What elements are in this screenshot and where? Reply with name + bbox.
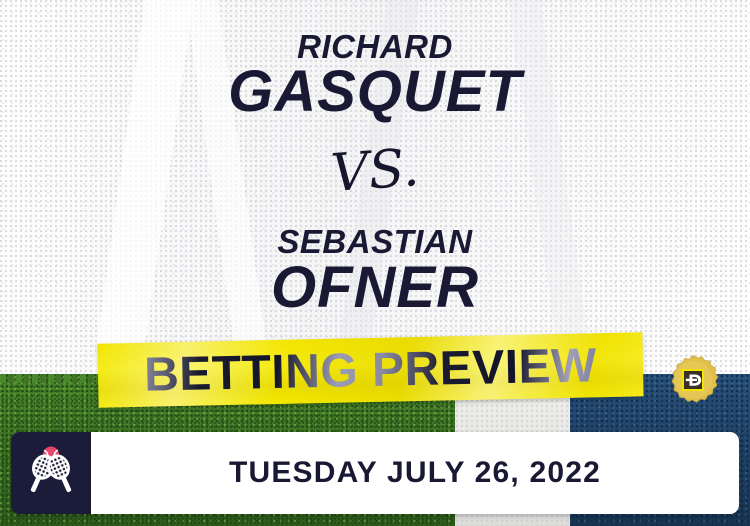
match-date-card: TUESDAY JULY 26, 2022 [91,432,739,514]
match-date-text: TUESDAY JULY 26, 2022 [229,456,601,490]
player-one-last-name: GASQUET [0,62,750,122]
tennis-betting-preview-poster: RICHARD GASQUET VS. SEBASTIAN OFNER BETT… [0,0,750,526]
crossed-tennis-racquets-icon [11,432,91,514]
player-two-first-name: SEBASTIAN [0,225,750,259]
player-two-last-name: OFNER [0,258,750,318]
betting-preview-label: BETTING PREVIEW [97,332,643,407]
betting-preview-banner: BETTING PREVIEW [97,332,643,407]
gold-seal-badge-icon [665,354,721,410]
